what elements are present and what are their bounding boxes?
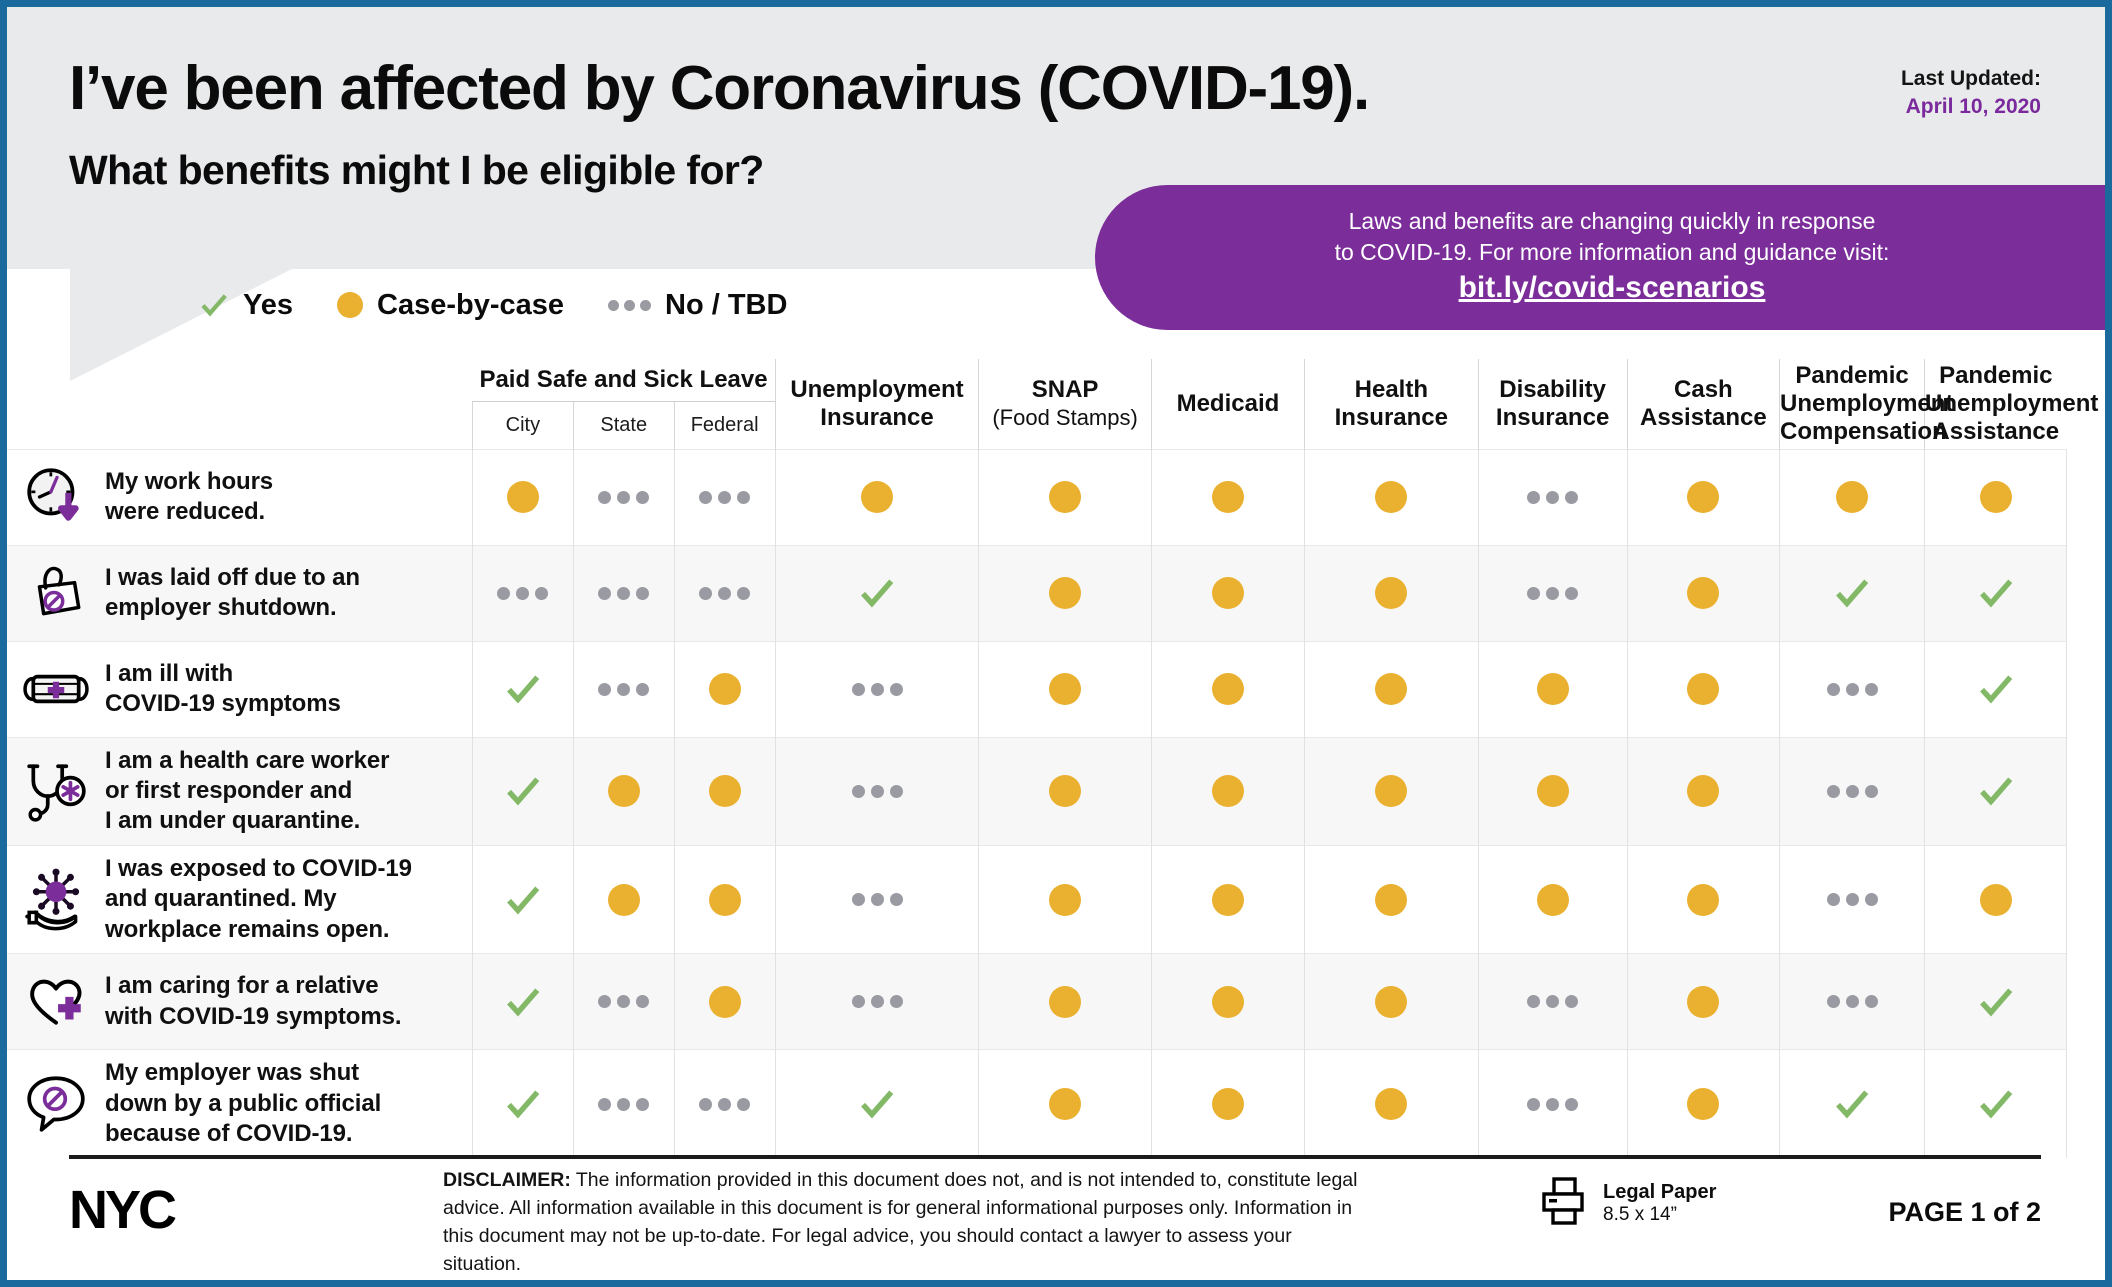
- col-ui-l2: Insurance: [820, 404, 933, 431]
- cell-8-case: [1627, 845, 1779, 953]
- ellipsis-icon: [473, 587, 573, 600]
- cell-1-no: [573, 954, 674, 1050]
- check-icon: [473, 1085, 573, 1123]
- dot-icon: [979, 1088, 1150, 1120]
- dot-icon: [1780, 481, 1924, 513]
- cell-0-yes: [472, 954, 573, 1050]
- handbag-prohibited-icon: [23, 560, 89, 626]
- paper-size: 8.5 x 14”: [1603, 1204, 1716, 1226]
- check-icon: [1925, 574, 2066, 612]
- legend-label-case-by-case: Case-by-case: [377, 289, 564, 322]
- ellipsis-icon: [776, 785, 979, 798]
- page-title: I’ve been affected by Coronavirus (COVID…: [69, 53, 1369, 124]
- row-label-cell: My work hourswere reduced.: [7, 449, 472, 545]
- table-row: I am caring for a relativewith COVID-19 …: [7, 954, 2067, 1050]
- dot-icon: [1479, 884, 1627, 916]
- cell-3-no: [775, 737, 979, 845]
- dot-icon: [1628, 884, 1779, 916]
- cell-3-yes: [775, 545, 979, 641]
- cell-1-no: [573, 641, 674, 737]
- table-row: I was exposed to COVID-19and quarantined…: [7, 845, 2067, 953]
- cell-9-no: [1780, 954, 1925, 1050]
- col-unemployment-insurance: Unemployment Insurance: [775, 359, 979, 449]
- virus-in-hand-icon: [23, 867, 89, 933]
- cell-10-case: [1925, 449, 2067, 545]
- cell-3-no: [775, 845, 979, 953]
- cell-7-case: [1478, 737, 1627, 845]
- cell-2-case: [674, 641, 775, 737]
- cell-4-case: [979, 449, 1151, 545]
- col-ca-l1: Cash: [1674, 376, 1733, 403]
- cell-10-yes: [1925, 641, 2067, 737]
- cell-10-yes: [1925, 737, 2067, 845]
- dot-icon: [979, 481, 1150, 513]
- cell-2-case: [674, 845, 775, 953]
- col-puc-l1: Pandemic: [1795, 362, 1908, 389]
- cell-2-case: [674, 737, 775, 845]
- dot-icon: [1305, 986, 1477, 1018]
- footer-divider: [69, 1155, 2041, 1159]
- dot-icon: [1628, 577, 1779, 609]
- cell-5-case: [1151, 845, 1304, 953]
- dot-icon: [675, 986, 775, 1018]
- ellipsis-icon: [776, 683, 979, 696]
- printer-icon: [1537, 1175, 1589, 1232]
- legend-label-yes: Yes: [243, 289, 293, 322]
- ellipsis-icon: [1780, 995, 1924, 1008]
- col-snap-l1: SNAP: [1032, 376, 1099, 403]
- dot-icon: [1152, 1088, 1304, 1120]
- dot-icon: [1305, 577, 1477, 609]
- legend: Yes Case-by-case No / TBD: [199, 279, 787, 331]
- ellipsis-icon: [574, 491, 674, 504]
- dot-icon: [776, 481, 979, 513]
- legend-item-case-by-case: Case-by-case: [337, 289, 564, 322]
- ellipsis-icon: [776, 995, 979, 1008]
- legend-label-no-tbd: No / TBD: [665, 289, 787, 322]
- dot-icon: [1925, 884, 2066, 916]
- ellipsis-icon: [1479, 491, 1627, 504]
- cell-0-yes: [472, 737, 573, 845]
- cell-5-case: [1151, 1050, 1304, 1158]
- row-label-cell: I was laid off due to anemployer shutdow…: [7, 545, 472, 641]
- last-updated-value: April 10, 2020: [1901, 93, 2041, 121]
- cell-4-case: [979, 641, 1151, 737]
- dot-icon: [1152, 775, 1304, 807]
- dot-icon: [1152, 884, 1304, 916]
- col-pua-l2: Unemployment: [1925, 390, 2098, 417]
- cell-3-no: [775, 954, 979, 1050]
- col-puc-l3: Compensation: [1780, 418, 1947, 445]
- cell-9-no: [1780, 845, 1925, 953]
- dot-icon: [1305, 775, 1477, 807]
- col-sub-state: State: [573, 401, 674, 449]
- dot-icon: [979, 884, 1150, 916]
- ellipsis-icon: [608, 300, 651, 311]
- ellipsis-icon: [1479, 995, 1627, 1008]
- cell-6-case: [1305, 449, 1478, 545]
- ellipsis-icon: [1479, 1098, 1627, 1111]
- cell-10-yes: [1925, 1050, 2067, 1158]
- cell-7-no: [1478, 545, 1627, 641]
- cell-2-no: [674, 1050, 775, 1158]
- cell-10-yes: [1925, 545, 2067, 641]
- dot-icon: [1628, 481, 1779, 513]
- cell-8-case: [1627, 641, 1779, 737]
- poster-inner: I’ve been affected by Coronavirus (COVID…: [7, 7, 2105, 1280]
- cell-5-case: [1151, 737, 1304, 845]
- cell-9-case: [1780, 449, 1925, 545]
- cell-4-case: [979, 954, 1151, 1050]
- cell-2-no: [674, 545, 775, 641]
- cell-8-case: [1627, 449, 1779, 545]
- col-pandemic-unemployment-assistance: Pandemic Unemployment Assistance: [1925, 359, 2067, 449]
- col-hi-l2: Insurance: [1335, 404, 1448, 431]
- cell-2-no: [674, 449, 775, 545]
- ellipsis-icon: [1780, 683, 1924, 696]
- dot-icon: [1305, 673, 1477, 705]
- dot-icon: [979, 986, 1150, 1018]
- cell-0-no: [472, 545, 573, 641]
- col-ca-l2: Assistance: [1640, 404, 1767, 431]
- cell-10-yes: [1925, 954, 2067, 1050]
- row-label-text: I am ill withCOVID-19 symptoms: [105, 659, 341, 720]
- cell-1-no: [573, 449, 674, 545]
- check-icon: [1925, 1085, 2066, 1123]
- dot-icon: [1628, 673, 1779, 705]
- cell-3-no: [775, 641, 979, 737]
- info-banner-line-1: Laws and benefits are changing quickly i…: [1155, 206, 2069, 237]
- cell-0-yes: [472, 641, 573, 737]
- dot-icon: [574, 775, 674, 807]
- table-body: My work hourswere reduced.I was laid off…: [7, 449, 2067, 1158]
- col-cash-assistance: Cash Assistance: [1627, 359, 1779, 449]
- page-number: PAGE 1 of 2: [1888, 1197, 2041, 1228]
- dot-icon: [1305, 481, 1477, 513]
- row-label-text: My work hourswere reduced.: [105, 467, 273, 528]
- cell-6-case: [1305, 954, 1478, 1050]
- cell-6-case: [1305, 1050, 1478, 1158]
- cell-4-case: [979, 545, 1151, 641]
- table-row: My work hourswere reduced.: [7, 449, 2067, 545]
- cell-3-yes: [775, 1050, 979, 1158]
- dot-icon: [1479, 673, 1627, 705]
- check-icon: [473, 983, 573, 1021]
- row-label-text: I was laid off due to anemployer shutdow…: [105, 563, 360, 624]
- check-icon: [1925, 983, 2066, 1021]
- dot-icon: [675, 673, 775, 705]
- col-disability-insurance: Disability Insurance: [1478, 359, 1627, 449]
- paper-name: Legal Paper: [1603, 1181, 1716, 1204]
- cell-1-case: [573, 845, 674, 953]
- col-di-l1: Disability: [1499, 376, 1606, 403]
- cell-7-case: [1478, 641, 1627, 737]
- col-pandemic-unemployment-compensation: Pandemic Unemployment Compensation: [1780, 359, 1925, 449]
- cell-5-case: [1151, 545, 1304, 641]
- benefits-table-wrap: Paid Safe and Sick Leave Unemployment In…: [7, 359, 2105, 1158]
- heart-plus-icon: [23, 969, 89, 1035]
- cell-0-case: [472, 449, 573, 545]
- cell-4-case: [979, 737, 1151, 845]
- cell-8-case: [1627, 1050, 1779, 1158]
- cell-6-case: [1305, 737, 1478, 845]
- cell-0-yes: [472, 845, 573, 953]
- face-mask-plus-icon: [23, 656, 89, 722]
- ellipsis-icon: [1780, 785, 1924, 798]
- col-pua-l1: Pandemic: [1939, 362, 2052, 389]
- ellipsis-icon: [574, 995, 674, 1008]
- legend-item-no-tbd: No / TBD: [608, 289, 787, 322]
- dot-icon: [1152, 673, 1304, 705]
- cell-7-case: [1478, 845, 1627, 953]
- group-header-spacer: [7, 359, 472, 401]
- cell-3-case: [775, 449, 979, 545]
- dot-icon: [1628, 775, 1779, 807]
- ellipsis-icon: [574, 587, 674, 600]
- cell-6-case: [1305, 545, 1478, 641]
- ellipsis-icon: [574, 1098, 674, 1111]
- table-row: I am ill withCOVID-19 symptoms: [7, 641, 2067, 737]
- info-banner: Laws and benefits are changing quickly i…: [1095, 185, 2105, 330]
- ellipsis-icon: [574, 683, 674, 696]
- check-icon: [473, 772, 573, 810]
- dot-icon: [1152, 577, 1304, 609]
- check-icon: [776, 1085, 979, 1123]
- dot-icon: [1152, 986, 1304, 1018]
- disclaimer: DISCLAIMER: The information provided in …: [443, 1167, 1363, 1279]
- row-label-text: I was exposed to COVID-19and quarantined…: [105, 854, 412, 945]
- dot-icon: [1479, 775, 1627, 807]
- check-icon: [1780, 574, 1924, 612]
- col-di-l2: Insurance: [1496, 404, 1609, 431]
- ellipsis-icon: [776, 893, 979, 906]
- cell-7-no: [1478, 954, 1627, 1050]
- col-medicaid-l1: Medicaid: [1177, 390, 1280, 417]
- cell-5-case: [1151, 641, 1304, 737]
- col-health-insurance: Health Insurance: [1305, 359, 1478, 449]
- paper-size-info: Legal Paper 8.5 x 14”: [1537, 1175, 1716, 1232]
- page-subtitle: What benefits might I be eligible for?: [69, 147, 764, 194]
- check-icon: [199, 290, 229, 320]
- col-ui-l1: Unemployment: [790, 376, 963, 403]
- dot-icon: [1152, 481, 1304, 513]
- row-label-cell: My employer was shutdown by a public off…: [7, 1050, 472, 1158]
- cell-4-case: [979, 1050, 1151, 1158]
- cell-9-no: [1780, 737, 1925, 845]
- dot-icon: [979, 577, 1150, 609]
- last-updated-label: Last Updated:: [1901, 65, 2041, 93]
- cell-8-case: [1627, 737, 1779, 845]
- cell-9-no: [1780, 641, 1925, 737]
- ellipsis-icon: [675, 587, 775, 600]
- table-group-header-row: Paid Safe and Sick Leave Unemployment In…: [7, 359, 2067, 401]
- dot-icon: [337, 292, 363, 318]
- dot-icon: [979, 775, 1150, 807]
- check-icon: [1925, 670, 2066, 708]
- speech-bubble-prohibited-icon: [23, 1071, 89, 1137]
- check-icon: [1925, 772, 2066, 810]
- dot-icon: [1305, 884, 1477, 916]
- row-label-text: I am a health care workeror first respon…: [105, 746, 389, 837]
- ellipsis-icon: [1479, 587, 1627, 600]
- col-sub-federal: Federal: [674, 401, 775, 449]
- check-icon: [473, 670, 573, 708]
- dot-icon: [473, 481, 573, 513]
- row-label-cell: I am caring for a relativewith COVID-19 …: [7, 954, 472, 1050]
- cell-6-case: [1305, 845, 1478, 953]
- disclaimer-line-3: may not be up-to-date. For legal advice,…: [443, 1225, 1292, 1275]
- cell-5-case: [1151, 449, 1304, 545]
- cell-6-case: [1305, 641, 1478, 737]
- cell-8-case: [1627, 954, 1779, 1050]
- disclaimer-label: DISCLAIMER:: [443, 1169, 571, 1191]
- stethoscope-star-of-life-icon: [23, 758, 89, 824]
- cell-10-case: [1925, 845, 2067, 953]
- ellipsis-icon: [675, 1098, 775, 1111]
- dot-icon: [1305, 1088, 1477, 1120]
- check-icon: [776, 574, 979, 612]
- check-icon: [1780, 1085, 1924, 1123]
- paper-text: Legal Paper 8.5 x 14”: [1603, 1181, 1716, 1226]
- col-medicaid: Medicaid: [1151, 359, 1304, 449]
- dot-icon: [574, 884, 674, 916]
- legend-item-yes: Yes: [199, 289, 293, 322]
- col-snap: SNAP (Food Stamps): [979, 359, 1151, 449]
- check-icon: [473, 881, 573, 919]
- info-banner-link[interactable]: bit.ly/covid-scenarios: [1155, 271, 2069, 305]
- cell-0-yes: [472, 1050, 573, 1158]
- cell-1-no: [573, 1050, 674, 1158]
- nyc-logo: NYC: [69, 1179, 174, 1241]
- cell-1-no: [573, 545, 674, 641]
- cell-7-no: [1478, 449, 1627, 545]
- cell-9-yes: [1780, 1050, 1925, 1158]
- table-row: My employer was shutdown by a public off…: [7, 1050, 2067, 1158]
- info-banner-line-2: to COVID-19. For more information and gu…: [1155, 237, 2069, 268]
- row-label-text: I am caring for a relativewith COVID-19 …: [105, 971, 401, 1032]
- cell-5-case: [1151, 954, 1304, 1050]
- ellipsis-icon: [675, 491, 775, 504]
- poster-page: I’ve been affected by Coronavirus (COVID…: [0, 0, 2112, 1287]
- table-row: I was laid off due to anemployer shutdow…: [7, 545, 2067, 641]
- col-pua-l3: Assistance: [1932, 418, 2059, 445]
- dot-icon: [1925, 481, 2066, 513]
- last-updated: Last Updated: April 10, 2020: [1901, 65, 2041, 122]
- benefits-table: Paid Safe and Sick Leave Unemployment In…: [7, 359, 2067, 1158]
- cell-9-yes: [1780, 545, 1925, 641]
- clock-down-arrow-icon: [23, 464, 89, 530]
- row-label-text: My employer was shutdown by a public off…: [105, 1058, 381, 1149]
- cell-4-case: [979, 845, 1151, 953]
- cell-8-case: [1627, 545, 1779, 641]
- dot-icon: [1628, 1088, 1779, 1120]
- table-row: I am a health care workeror first respon…: [7, 737, 2067, 845]
- sub-header-spacer: [7, 401, 472, 449]
- cell-1-case: [573, 737, 674, 845]
- ellipsis-icon: [1780, 893, 1924, 906]
- row-label-cell: I was exposed to COVID-19and quarantined…: [7, 845, 472, 953]
- col-sub-city: City: [472, 401, 573, 449]
- row-label-cell: I am ill withCOVID-19 symptoms: [7, 641, 472, 737]
- col-snap-l2: (Food Stamps): [992, 405, 1138, 430]
- dot-icon: [675, 775, 775, 807]
- dot-icon: [1628, 986, 1779, 1018]
- col-group-paid-safe-sick-leave: Paid Safe and Sick Leave: [472, 359, 775, 401]
- col-hi-l1: Health: [1355, 376, 1428, 403]
- cell-7-no: [1478, 1050, 1627, 1158]
- cell-2-case: [674, 954, 775, 1050]
- dot-icon: [675, 884, 775, 916]
- dot-icon: [979, 673, 1150, 705]
- row-label-cell: I am a health care workeror first respon…: [7, 737, 472, 845]
